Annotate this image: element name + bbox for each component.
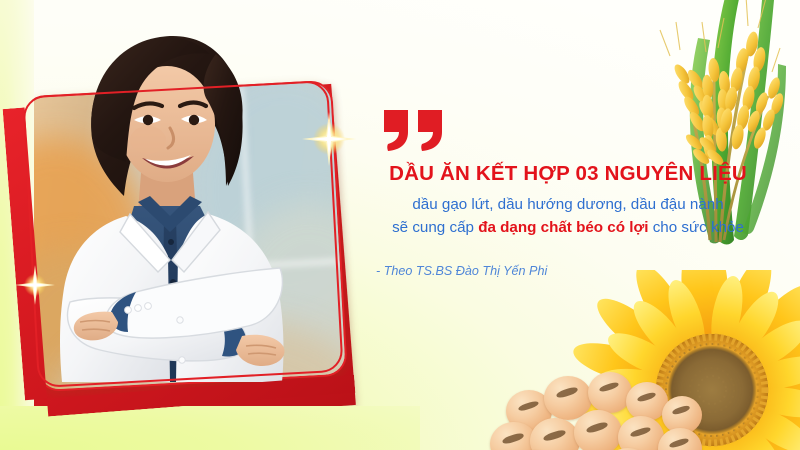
photo-bottom-mask bbox=[0, 406, 420, 450]
soybean bbox=[618, 416, 664, 450]
subtitle-line-2: sẽ cung cấp đa dạng chất béo có lợi cho … bbox=[368, 217, 768, 239]
soybean bbox=[530, 418, 580, 450]
quote-attribution: - Theo TS.BS Đào Thị Yến Phi bbox=[376, 264, 768, 278]
quote-content: DẦU ĂN KẾT HỢP 03 NGUYÊN LIỆU dầu gạo lứ… bbox=[368, 108, 768, 278]
subtitle-line-1: dầu gạo lứt, dầu hướng dương, dầu đậu nà… bbox=[368, 194, 768, 216]
page-title: DẦU ĂN KẾT HỢP 03 NGUYÊN LIỆU bbox=[368, 162, 768, 186]
doctor-photo-figure bbox=[30, 20, 336, 382]
soybean bbox=[658, 428, 702, 450]
double-quote-icon bbox=[382, 108, 446, 152]
promo-banner: DẦU ĂN KẾT HỢP 03 NGUYÊN LIỆU dầu gạo lứ… bbox=[0, 0, 800, 450]
subtitle-line-2-prefix: sẽ cung cấp bbox=[392, 219, 478, 236]
soybean-illustration bbox=[504, 346, 734, 450]
photo-left-mask bbox=[0, 0, 34, 450]
soybean bbox=[588, 372, 632, 413]
soybean bbox=[574, 410, 622, 450]
subtitle-line-2-highlight: đa dạng chất béo có lợi bbox=[478, 219, 648, 236]
subtitle-line-2-suffix: cho sức khỏe bbox=[648, 219, 743, 236]
